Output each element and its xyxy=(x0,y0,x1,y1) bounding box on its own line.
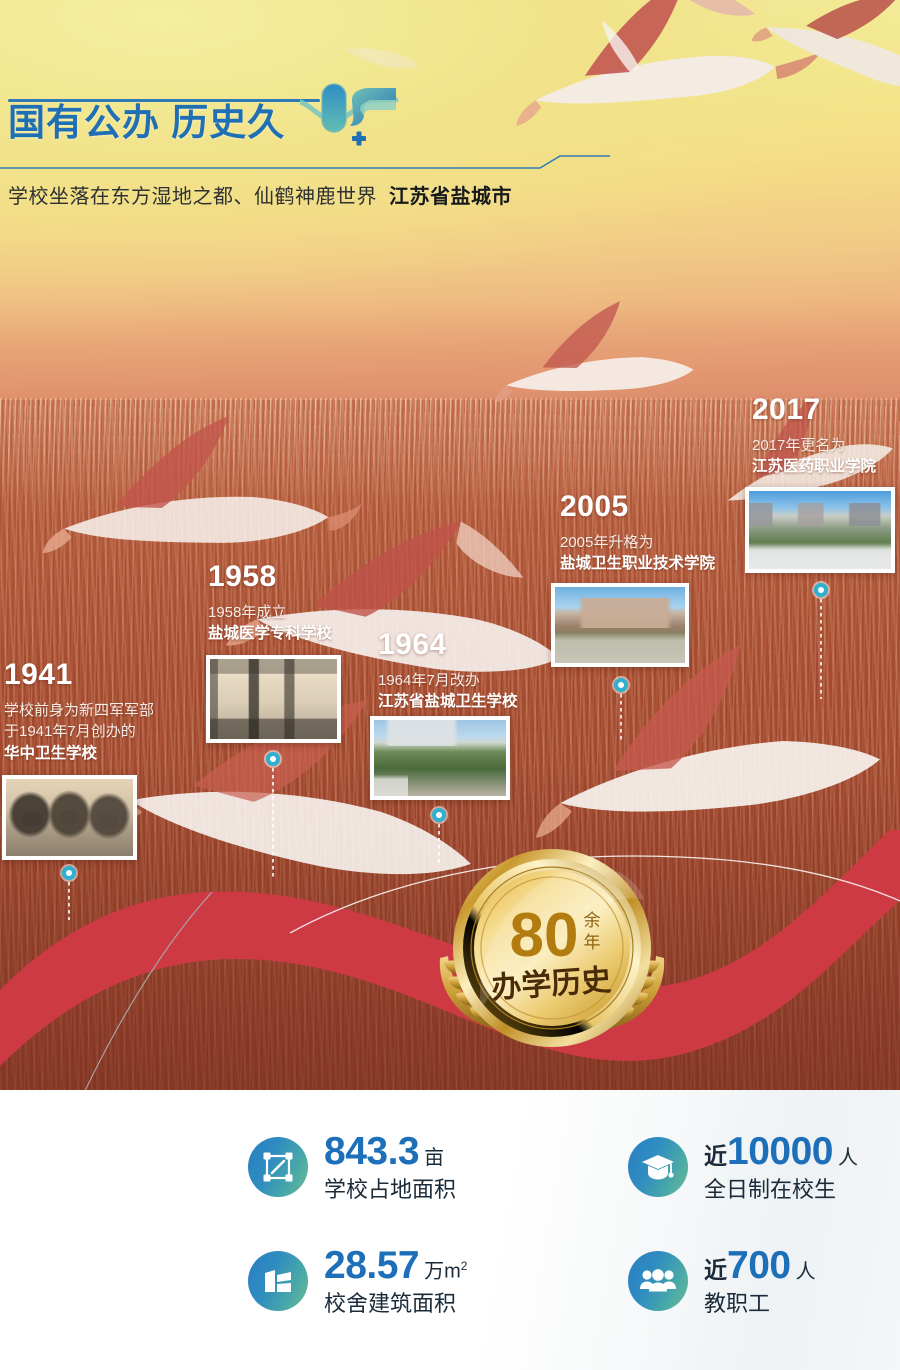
timeline-dash-2005 xyxy=(620,694,622,740)
timeline-year: 2017 xyxy=(752,395,876,425)
stats-section: 843.3 亩 学校占地面积 近 10000 人 全日制在校生 xyxy=(0,1118,900,1358)
medal-suffix-top: 余 xyxy=(584,911,601,930)
stat-number: 843.3 xyxy=(324,1132,419,1171)
timeline-year: 2005 xyxy=(560,492,715,522)
timeline-photo-1958 xyxy=(206,655,341,743)
timeline-item-2017: 2017 2017年更名为 江苏医药职业学院 xyxy=(752,395,876,478)
header: 国有公办 历史久 学校坐落在东方湿地之都、仙鹤神鹿世界江苏省盐城市 xyxy=(0,92,640,154)
timeline-line: 2005年升格为 xyxy=(560,532,715,553)
stat-card-building-area: 28.57 万m2 校舍建筑面积 xyxy=(248,1246,467,1316)
stat-unit: 万m2 xyxy=(424,1260,467,1282)
stat-unit-sup: 2 xyxy=(461,1259,468,1273)
stat-unit: 人 xyxy=(838,1148,858,1168)
timeline-item-1941: 1941 学校前身为新四军军部 于1941年7月创办的 华中卫生学校 xyxy=(4,660,154,765)
timeline-line-strong: 江苏医药职业学院 xyxy=(752,456,876,478)
timeline-dash-2017 xyxy=(820,599,822,699)
timeline-photo-2017 xyxy=(745,487,895,573)
medal-suffix-bottom: 年 xyxy=(584,933,601,952)
stat-card-staff: 近 700 人 教职工 xyxy=(628,1246,816,1316)
medal-number: 80 xyxy=(510,901,579,970)
timeline-item-1958: 1958 1958年成立 盐城医学专科学校 xyxy=(208,562,332,645)
stat-unit: 人 xyxy=(796,1262,816,1282)
80-years-medal-badge: 80 余 年 办学历史 xyxy=(452,848,652,1048)
stat-prefix: 近 xyxy=(704,1259,727,1282)
timeline-line-strong: 华中卫生学校 xyxy=(4,743,154,765)
timeline-photo-1941 xyxy=(2,775,137,860)
stat-number: 28.57 xyxy=(324,1246,419,1285)
timeline-dash-1964 xyxy=(438,824,440,866)
stat-label: 教职工 xyxy=(704,1292,816,1316)
buildings-icon xyxy=(248,1251,308,1311)
timeline-line-strong: 盐城卫生职业技术学院 xyxy=(560,553,715,575)
timeline-item-1964: 1964 1964年7月改办 江苏省盐城卫生学校 xyxy=(378,630,518,713)
timeline-item-2005: 2005 2005年升格为 盐城卫生职业技术学院 xyxy=(560,492,715,575)
timeline-year: 1958 xyxy=(208,562,332,592)
subtitle-strong: 江苏省盐城市 xyxy=(389,186,512,208)
timeline-year: 1941 xyxy=(4,660,154,690)
stat-unit: 亩 xyxy=(424,1148,444,1168)
timeline-dot-2017 xyxy=(814,583,828,597)
timeline-dot-1964 xyxy=(432,808,446,822)
header-subtitle: 学校坐落在东方湿地之都、仙鹤神鹿世界江苏省盐城市 xyxy=(8,180,512,209)
timeline-dot-1941 xyxy=(62,866,76,880)
timeline-line-strong: 盐城医学专科学校 xyxy=(208,623,332,645)
stat-label: 全日制在校生 xyxy=(704,1178,858,1202)
area-measure-icon xyxy=(248,1137,308,1197)
people-group-icon xyxy=(628,1251,688,1311)
timeline-line: 学校前身为新四军军部 xyxy=(4,700,154,721)
timeline-photo-1964 xyxy=(370,716,510,800)
stat-label: 校舍建筑面积 xyxy=(324,1292,467,1316)
timeline-photo-2005 xyxy=(551,583,689,667)
stat-card-students: 近 10000 人 全日制在校生 xyxy=(628,1132,858,1202)
timeline-dash-1941 xyxy=(68,882,70,920)
subtitle-normal: 学校坐落在东方湿地之都、仙鹤神鹿世界 xyxy=(8,186,377,208)
stat-label: 学校占地面积 xyxy=(324,1178,456,1202)
timeline-line: 于1941年7月创办的 xyxy=(4,721,154,742)
stat-number: 10000 xyxy=(727,1132,833,1171)
timeline-dot-1958 xyxy=(266,752,280,766)
page-title: 国有公办 历史久 xyxy=(8,92,285,154)
timeline-line: 2017年更名为 xyxy=(752,435,876,456)
timeline-line: 1964年7月改办 xyxy=(378,670,518,691)
timeline-dash-1958 xyxy=(272,768,274,880)
timeline-line: 1958年成立 xyxy=(208,602,332,623)
stat-number: 700 xyxy=(727,1246,791,1285)
capsule-leaf-plus-logo-icon xyxy=(300,80,430,166)
timeline-line-strong: 江苏省盐城卫生学校 xyxy=(378,691,518,713)
timeline-year: 1964 xyxy=(378,630,518,660)
timeline-dot-2005 xyxy=(614,678,628,692)
stat-card-land-area: 843.3 亩 学校占地面积 xyxy=(248,1132,456,1202)
stat-prefix: 近 xyxy=(704,1145,727,1168)
graduation-cap-icon xyxy=(628,1137,688,1197)
